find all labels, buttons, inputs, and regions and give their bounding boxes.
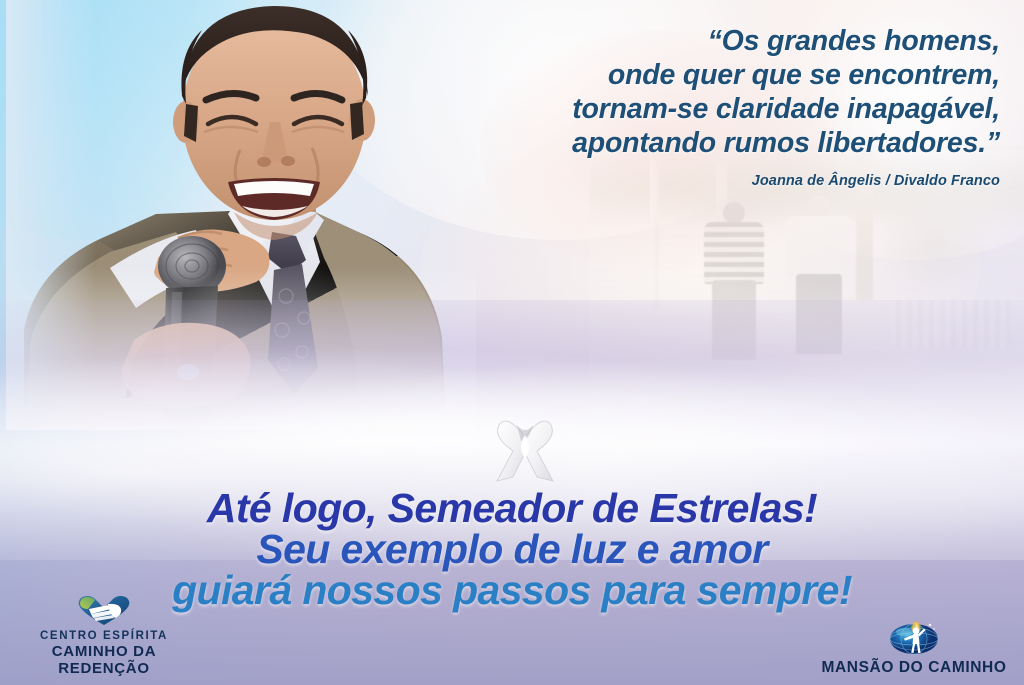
logo-left-line-2: CAMINHO DA REDENÇÃO [8,643,200,677]
globe-torch-figure-icon [886,616,942,656]
logo-mansao-do-caminho: MANSÃO DO CAMINHO [814,616,1014,677]
white-mourning-ribbon-icon [483,407,567,491]
memorial-poster: “Os grandes homens, onde quer que se enc… [0,0,1024,685]
portrait-illustration [6,0,476,430]
logo-right-line-1: MANSÃO DO CAMINHO [814,659,1014,677]
logo-centro-espirita: CENTRO ESPÍRITA CAMINHO DA REDENÇÃO [8,593,200,677]
headline-line-1: Até logo, Semeador de Estrelas! [0,487,1024,529]
background-photo-two-people-walking [590,150,1024,450]
photo-fade-veil [590,150,1024,450]
headline-line-2: Seu exemplo de luz e amor [0,528,1024,570]
logo-left-line-1: CENTRO ESPÍRITA [8,630,200,643]
quote-line-1: “Os grandes homens, [440,24,1000,58]
quote-line-4: apontando rumos libertadores.” [440,126,1000,160]
quote-line-2: onde quer que se encontrem, [440,58,1000,92]
heart-hands-icon [75,593,133,627]
portrait-figure [6,0,476,430]
quote-attribution: Joanna de Ângelis / Divaldo Franco [440,173,1000,189]
quote-block: “Os grandes homens, onde quer que se enc… [440,24,1000,189]
quote-line-3: tornam-se claridade inapagável, [440,92,1000,126]
